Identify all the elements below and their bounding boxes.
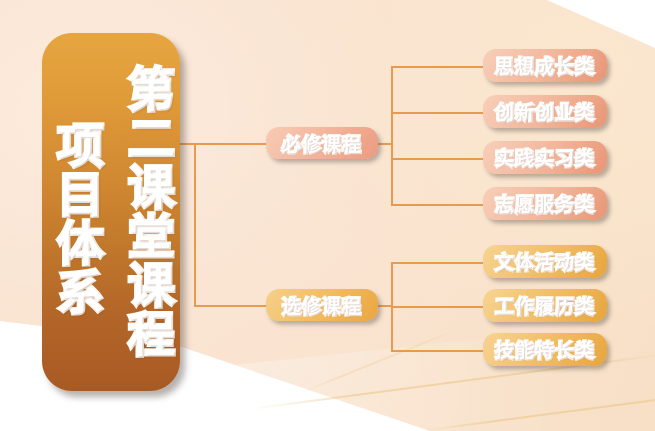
- leaf-node-required-4-label: 志愿服务类: [495, 190, 595, 217]
- leaf-node-required-4[interactable]: 志愿服务类: [483, 187, 607, 220]
- connector-required-leaf-4: [391, 204, 483, 206]
- leaf-node-required-2[interactable]: 创新创业类: [483, 95, 607, 128]
- connector-root-stub: [180, 143, 195, 145]
- leaf-node-required-3[interactable]: 实践实习类: [483, 141, 607, 174]
- connector-root-spine: [194, 143, 196, 307]
- connector-required-leaf-3: [391, 158, 483, 160]
- leaf-node-required-2-label: 创新创业类: [495, 98, 595, 125]
- root-title-line-left: 项目体系: [42, 121, 110, 317]
- diagram-canvas: 第二课堂课程 项目体系 必修课程 选修课程 思想成长类 创新创业类 实践实习类 …: [0, 0, 655, 431]
- connector-required-leaf-1: [391, 66, 483, 68]
- leaf-node-required-1-label: 思想成长类: [495, 52, 595, 79]
- connector-root-to-required: [194, 143, 266, 145]
- leaf-node-elective-3-label: 技能特长类: [495, 336, 595, 363]
- leaf-node-elective-2[interactable]: 工作履历类: [483, 289, 607, 322]
- branch-node-elective-label: 选修课程: [282, 292, 362, 319]
- root-node-card[interactable]: 第二课堂课程 项目体系: [42, 33, 180, 391]
- branch-node-elective[interactable]: 选修课程: [266, 289, 378, 321]
- connector-required-stub: [378, 143, 392, 145]
- root-title-line-right: 第二课堂课程: [112, 65, 180, 359]
- root-title-wrap: 第二课堂课程 项目体系: [42, 33, 180, 391]
- leaf-node-required-1[interactable]: 思想成长类: [483, 49, 607, 82]
- connector-root-to-elective: [194, 305, 266, 307]
- connector-elective-leaf-1: [391, 262, 483, 264]
- connector-elective-leaf-2: [391, 306, 483, 308]
- leaf-node-elective-2-label: 工作履历类: [495, 292, 595, 319]
- leaf-node-elective-1[interactable]: 文体活动类: [483, 245, 607, 278]
- leaf-node-elective-3[interactable]: 技能特长类: [483, 333, 607, 366]
- branch-node-required[interactable]: 必修课程: [266, 127, 378, 159]
- connector-elective-leaf-3: [391, 350, 483, 352]
- leaf-node-required-3-label: 实践实习类: [495, 144, 595, 171]
- connector-required-spine: [391, 66, 393, 205]
- leaf-node-elective-1-label: 文体活动类: [495, 248, 595, 275]
- branch-node-required-label: 必修课程: [282, 130, 362, 157]
- connector-elective-stub: [378, 305, 392, 307]
- connector-required-leaf-2: [391, 112, 483, 114]
